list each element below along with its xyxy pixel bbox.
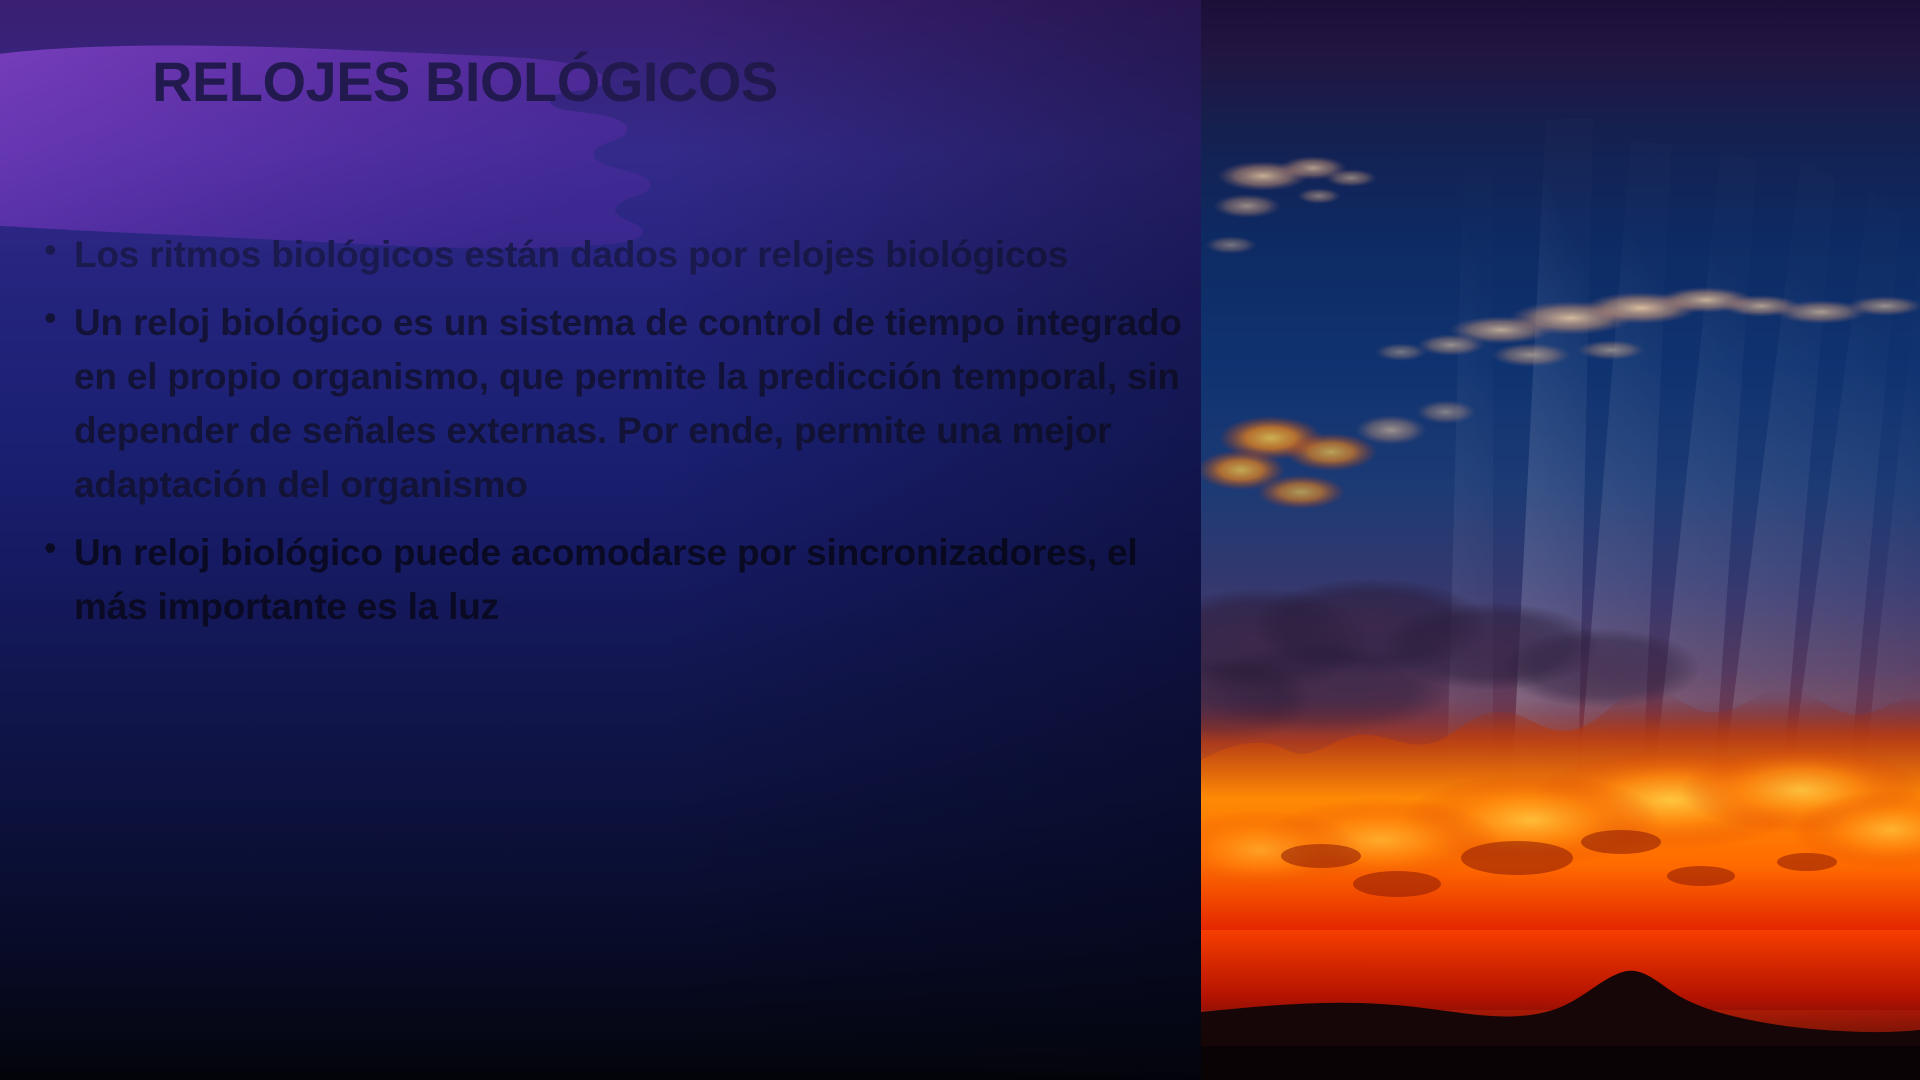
slide-bullet-list: • Los ritmos biológicos están dados por … [44,228,1184,648]
list-item: • Un reloj biológico es un sistema de co… [44,296,1184,512]
presentation-slide: RELOJES BIOLÓGICOS • Los ritmos biológic… [0,0,1920,1080]
bullet-point-icon: • [44,526,74,566]
slide-title: RELOJES BIOLÓGICOS [152,53,972,112]
list-item: • Un reloj biológico puede acomodarse po… [44,526,1184,634]
bullet-text: Los ritmos biológicos están dados por re… [74,228,1184,282]
bullet-point-icon: • [44,296,74,336]
list-item: • Los ritmos biológicos están dados por … [44,228,1184,282]
slide-text-panel: RELOJES BIOLÓGICOS • Los ritmos biológic… [0,0,1201,1080]
sunset-photo [1201,0,1920,1080]
bullet-text: Un reloj biológico puede acomodarse por … [74,526,1184,634]
bullet-text: Un reloj biológico es un sistema de cont… [74,296,1184,512]
bullet-point-icon: • [44,228,74,268]
